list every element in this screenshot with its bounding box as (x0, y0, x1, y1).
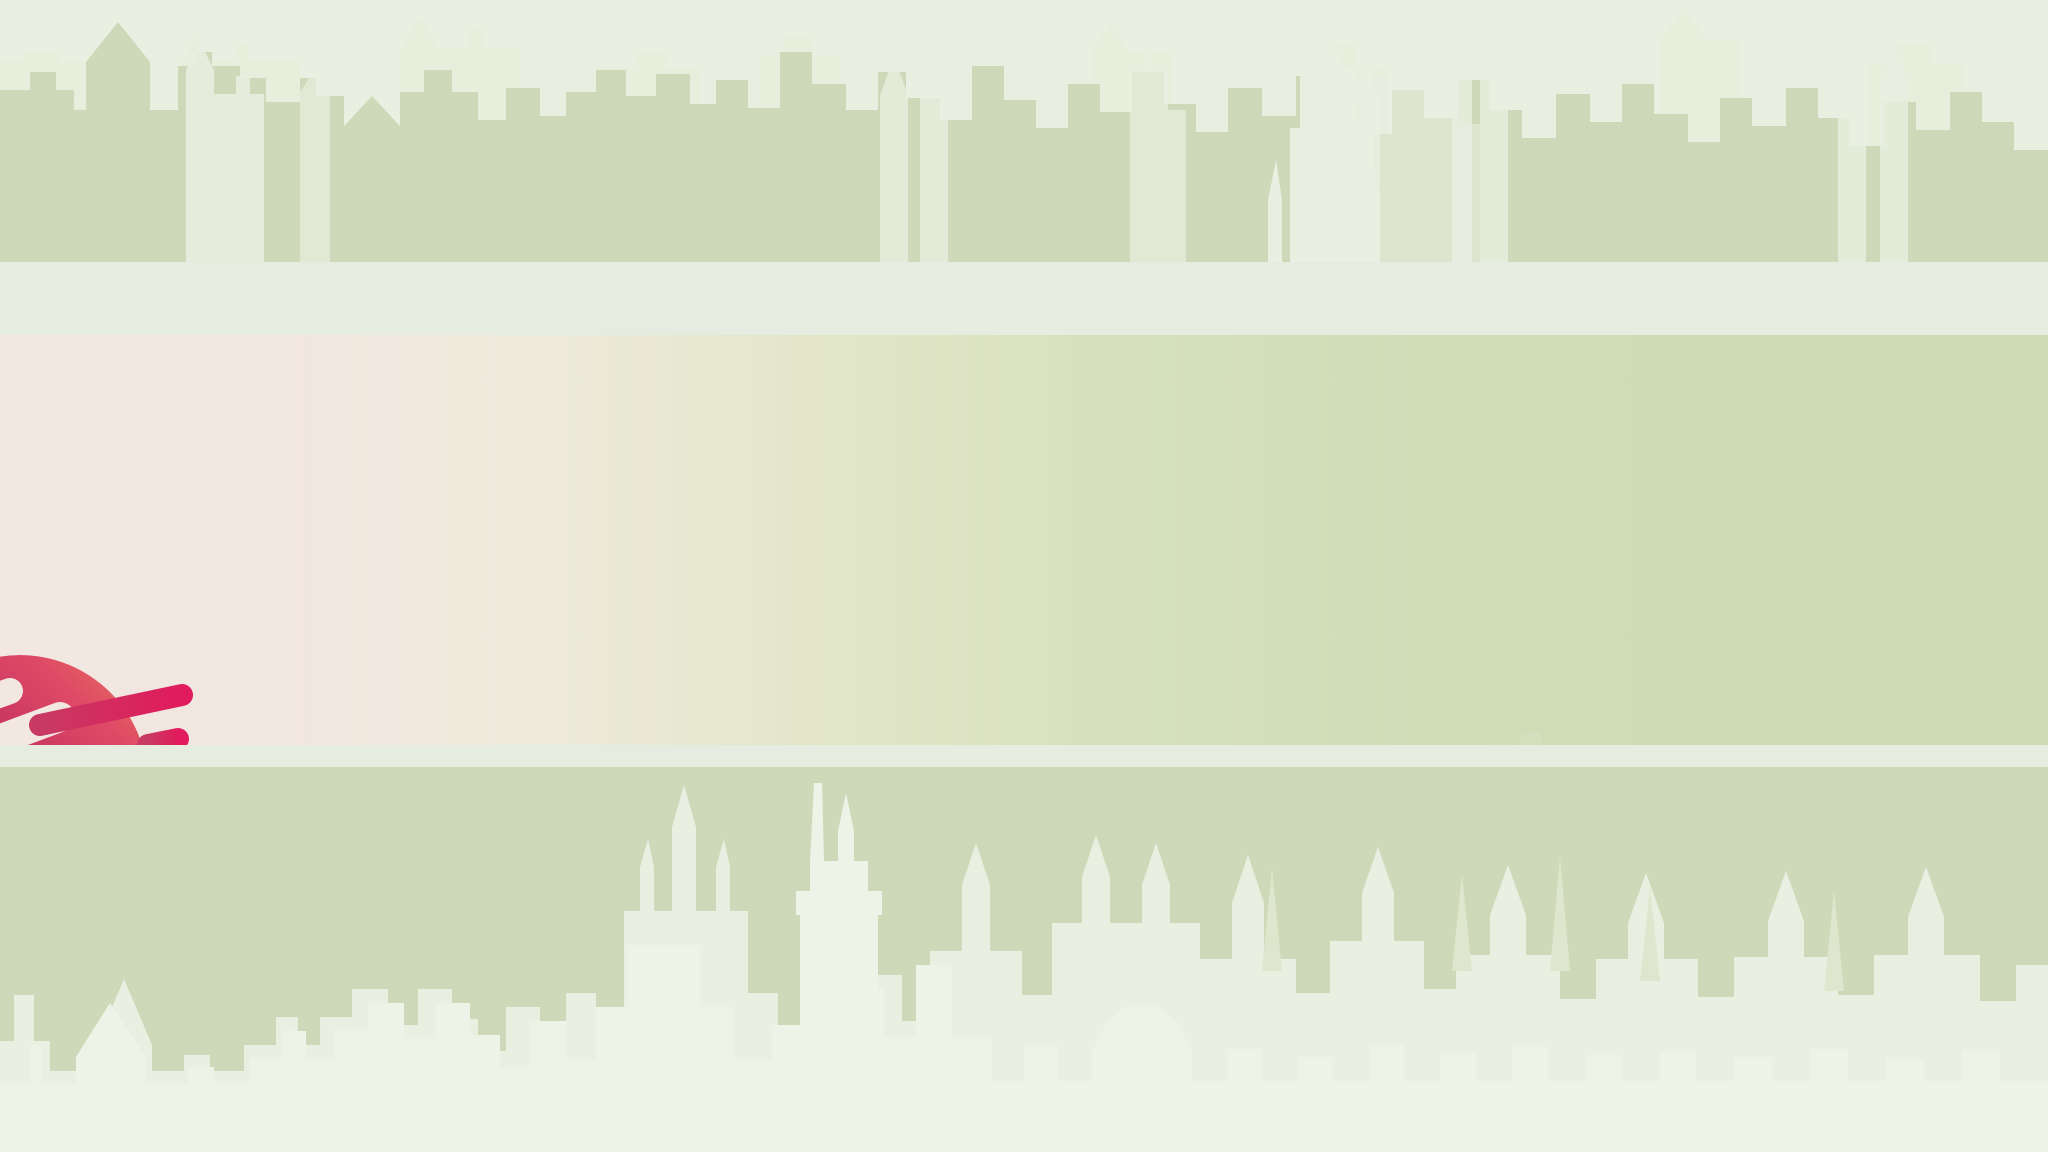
event-banner-page: DIFERENCIÁLNÍ DIAGNOSTIKA DUŠNOSTI 6. 11… (0, 0, 2048, 1152)
banner-text-block: DIFERENCIÁLNÍ DIAGNOSTIKA DUŠNOSTI 6. 11… (330, 670, 1710, 745)
background-cityscape-top (0, 0, 2048, 262)
swoosh-logo-icon (0, 653, 320, 745)
background-cityscape-bottom (0, 745, 2048, 1152)
background-pale-band-upper (0, 262, 2048, 335)
event-banner: DIFERENCIÁLNÍ DIAGNOSTIKA DUŠNOSTI 6. 11… (0, 335, 2048, 745)
watermark-glyph (1455, 727, 1573, 745)
